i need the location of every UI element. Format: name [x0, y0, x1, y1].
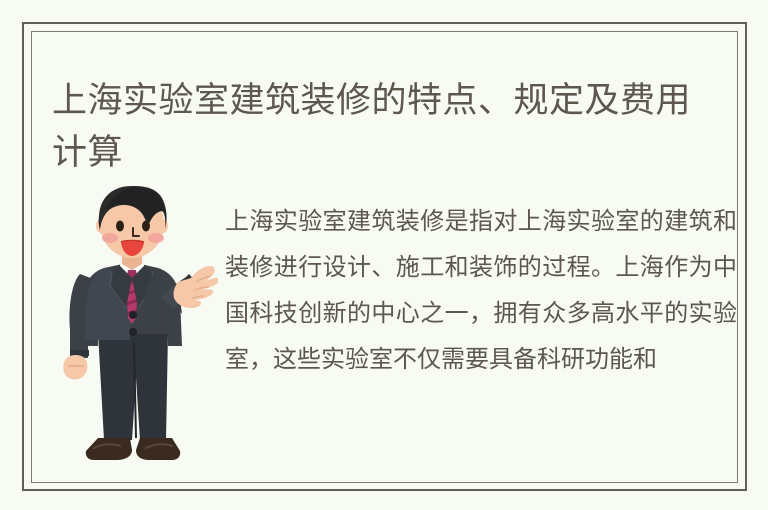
- article-content: 上海实验室建筑装修是指对上海实验室的建筑和装修进行设计、施工和装饰的过程。上海作…: [40, 170, 740, 480]
- article-body: 上海实验室建筑装修是指对上海实验室的建筑和装修进行设计、施工和装饰的过程。上海作…: [225, 199, 737, 383]
- article-card: 上海实验室建筑装修的特点、规定及费用计算: [0, 0, 768, 510]
- businessman-presenting-icon: [58, 182, 218, 482]
- page-title: 上海实验室建筑装修的特点、规定及费用计算: [52, 75, 722, 179]
